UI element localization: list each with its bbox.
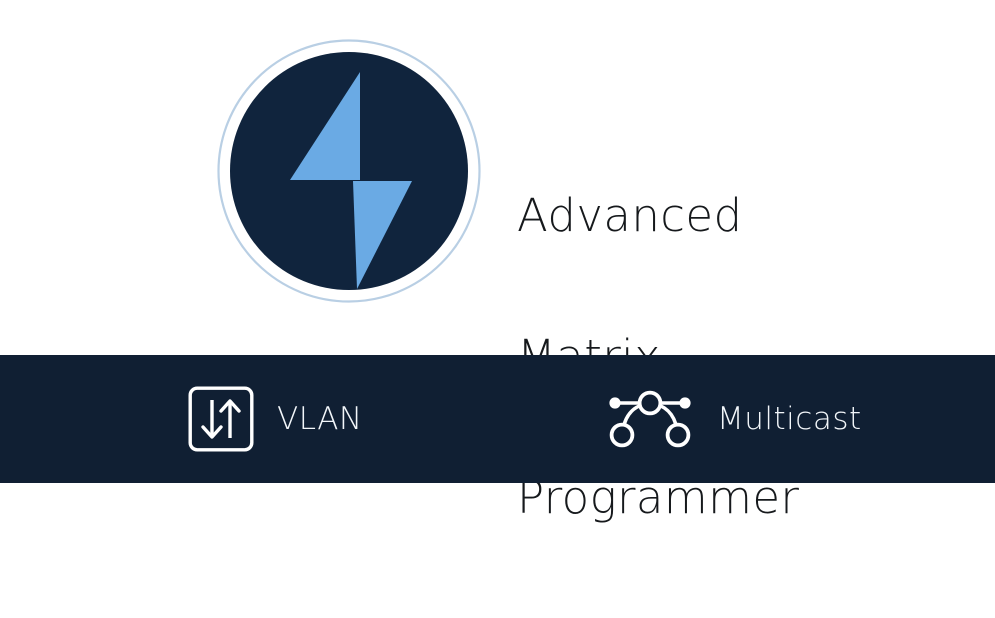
- promo-banner: Advanced Matrix Programmer VLAN: [0, 0, 995, 483]
- feature-label-multicast: Multicast: [717, 404, 862, 435]
- feature-item-multicast[interactable]: Multicast: [604, 355, 862, 483]
- vlan-icon-frame: [190, 388, 252, 450]
- multicast-handle-right: [679, 397, 690, 408]
- hero-section: Advanced Matrix Programmer: [0, 0, 995, 355]
- multicast-node-graph-icon: [604, 388, 696, 450]
- multicast-handle-left: [609, 397, 620, 408]
- multicast-leaf-node-left: [612, 425, 633, 446]
- feature-bar: VLAN Multicast: [0, 355, 995, 483]
- multicast-leaf-node-right: [668, 425, 689, 446]
- vlan-up-down-arrows-icon: [188, 386, 254, 452]
- multicast-source-node: [640, 393, 661, 414]
- brand-title-line-1: Advanced: [517, 192, 937, 239]
- feature-item-vlan[interactable]: VLAN: [188, 355, 363, 483]
- feature-label-vlan: VLAN: [277, 404, 363, 435]
- lightning-bolt-logo: [217, 39, 481, 303]
